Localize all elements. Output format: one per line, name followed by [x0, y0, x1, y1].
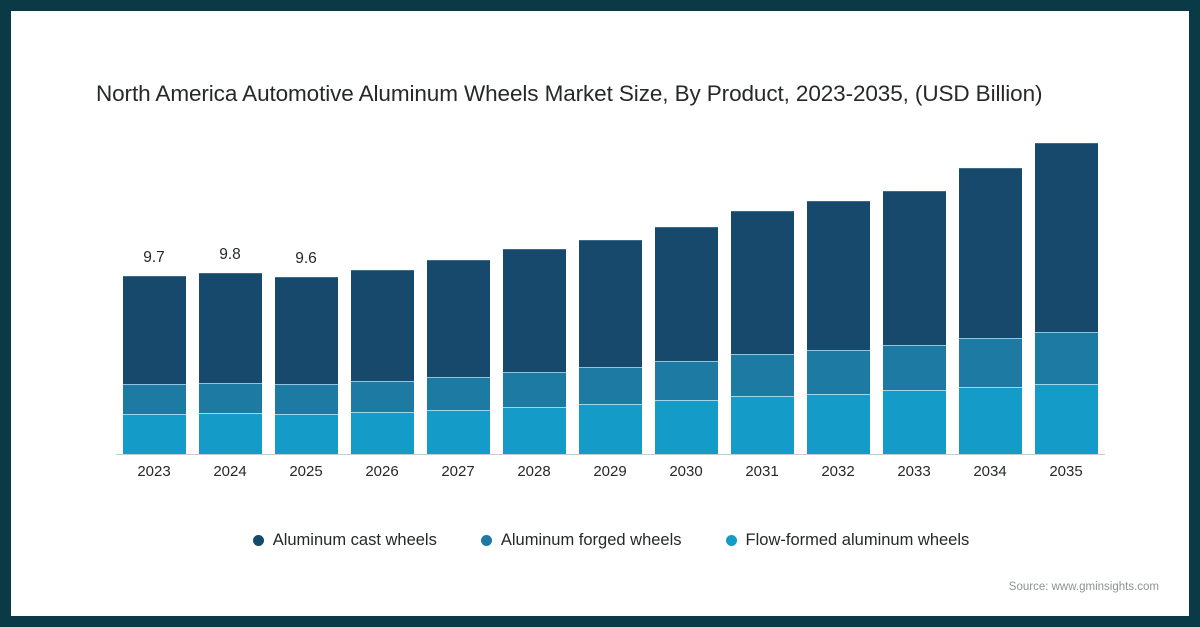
legend-item-0[interactable]: Aluminum cast wheels	[253, 531, 437, 550]
x-axis-label-2035: 2035	[1028, 463, 1104, 480]
bar-stack[interactable]	[1035, 143, 1098, 454]
legend-swatch-icon	[481, 535, 492, 546]
source-caption: Source: www.gminsights.com	[1009, 581, 1159, 593]
bar-segment-forged[interactable]	[275, 384, 338, 414]
bar-segment-cast[interactable]	[199, 273, 262, 383]
bar-segment-flow[interactable]	[807, 394, 870, 454]
bar-stack[interactable]: 9.7	[123, 276, 186, 454]
bar-segment-forged[interactable]	[579, 367, 642, 404]
bar-segment-cast[interactable]	[427, 260, 490, 377]
bar-segment-forged[interactable]	[883, 345, 946, 390]
bar-segment-flow[interactable]	[883, 390, 946, 454]
x-axis-label-2030: 2030	[648, 463, 724, 480]
bar-segment-flow[interactable]	[199, 413, 262, 454]
bar-segment-cast[interactable]	[731, 211, 794, 354]
bar-segment-cast[interactable]	[351, 270, 414, 381]
bar-segment-flow[interactable]	[579, 404, 642, 454]
bar-segment-cast[interactable]	[579, 240, 642, 367]
bar-stack[interactable]	[807, 201, 870, 454]
x-axis-label-2026: 2026	[344, 463, 420, 480]
bar-value-label: 9.7	[123, 249, 186, 267]
legend-swatch-icon	[726, 535, 737, 546]
bar-segment-flow[interactable]	[123, 414, 186, 454]
bar-segment-cast[interactable]	[275, 277, 338, 384]
bar-segment-cast[interactable]	[123, 276, 186, 384]
legend-item-1[interactable]: Aluminum forged wheels	[481, 531, 682, 550]
bar-segment-flow[interactable]	[275, 414, 338, 454]
bar-stack[interactable]	[959, 168, 1022, 454]
bar-segment-flow[interactable]	[731, 396, 794, 454]
legend-label: Aluminum forged wheels	[501, 531, 682, 550]
bar-stack[interactable]	[731, 211, 794, 454]
x-axis-label-2028: 2028	[496, 463, 572, 480]
x-axis-label-2023: 2023	[116, 463, 192, 480]
bar-segment-flow[interactable]	[1035, 384, 1098, 454]
chart-canvas: North America Automotive Aluminum Wheels…	[11, 11, 1189, 616]
bar-segment-forged[interactable]	[199, 383, 262, 413]
bar-stack[interactable]: 9.6	[275, 277, 338, 454]
bar-segment-flow[interactable]	[427, 410, 490, 454]
bar-segment-forged[interactable]	[123, 384, 186, 414]
page-title: North America Automotive Aluminum Wheels…	[96, 81, 1136, 107]
x-axis-label-2032: 2032	[800, 463, 876, 480]
x-axis-label-2025: 2025	[268, 463, 344, 480]
x-axis-label-2034: 2034	[952, 463, 1028, 480]
bar-segment-cast[interactable]	[883, 191, 946, 345]
x-axis-label-2033: 2033	[876, 463, 952, 480]
bar-value-label: 9.6	[275, 250, 338, 268]
bar-stack[interactable]	[579, 240, 642, 454]
bar-stack[interactable]	[503, 249, 566, 454]
plot-area: 9.79.89.6	[116, 131, 1104, 454]
chart-page: North America Automotive Aluminum Wheels…	[0, 0, 1200, 627]
bar-segment-cast[interactable]	[807, 201, 870, 350]
bar-segment-cast[interactable]	[959, 168, 1022, 338]
bar-value-label: 9.8	[199, 246, 262, 264]
bar-segment-cast[interactable]	[1035, 143, 1098, 332]
chart-legend: Aluminum cast wheelsAluminum forged whee…	[11, 531, 1200, 550]
bar-segment-forged[interactable]	[427, 377, 490, 410]
x-axis-line	[116, 454, 1105, 455]
legend-label: Aluminum cast wheels	[273, 531, 437, 550]
bar-stack[interactable]	[655, 227, 718, 454]
bar-stack[interactable]	[351, 270, 414, 454]
bar-segment-forged[interactable]	[1035, 332, 1098, 384]
bar-stack[interactable]	[883, 191, 946, 454]
legend-label: Flow-formed aluminum wheels	[746, 531, 970, 550]
bar-segment-forged[interactable]	[731, 354, 794, 396]
bar-segment-forged[interactable]	[959, 338, 1022, 387]
x-axis-label-2031: 2031	[724, 463, 800, 480]
bar-segment-forged[interactable]	[807, 350, 870, 394]
bar-segment-forged[interactable]	[351, 381, 414, 412]
bar-segment-forged[interactable]	[655, 361, 718, 400]
bar-segment-flow[interactable]	[503, 407, 566, 454]
bar-segment-forged[interactable]	[503, 372, 566, 407]
bar-segment-flow[interactable]	[655, 400, 718, 454]
bar-stack[interactable]: 9.8	[199, 273, 262, 454]
x-axis-label-2027: 2027	[420, 463, 496, 480]
bar-segment-flow[interactable]	[351, 412, 414, 454]
legend-item-2[interactable]: Flow-formed aluminum wheels	[726, 531, 970, 550]
bar-segment-cast[interactable]	[655, 227, 718, 361]
bar-segment-cast[interactable]	[503, 249, 566, 372]
legend-swatch-icon	[253, 535, 264, 546]
x-axis-label-2024: 2024	[192, 463, 268, 480]
bar-segment-flow[interactable]	[959, 387, 1022, 454]
x-axis-label-2029: 2029	[572, 463, 648, 480]
bar-stack[interactable]	[427, 260, 490, 454]
